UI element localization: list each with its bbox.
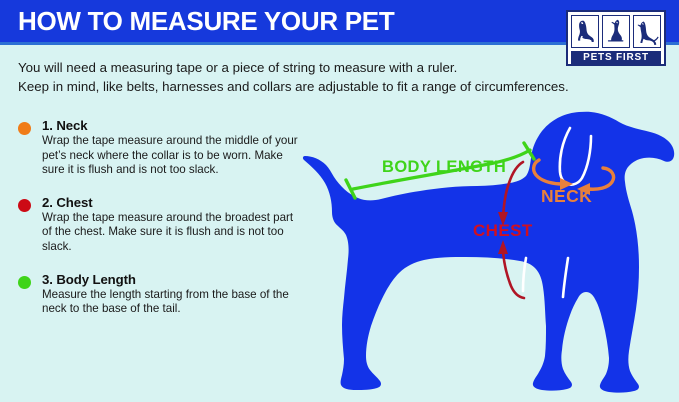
- step-body-length: 3. Body Length Measure the length starti…: [18, 272, 303, 317]
- dog-measurement-diagram: BODY LENGTH NECK CHEST: [298, 106, 679, 402]
- dog-silhouette-icon: [303, 112, 674, 393]
- logo-panels: [571, 15, 661, 48]
- step-dot-body-length: [18, 276, 31, 289]
- step-title-body-length: 3. Body Length: [42, 272, 303, 287]
- step-body-neck: Wrap the tape measure around the middle …: [42, 134, 303, 178]
- intro-line-1: You will need a measuring tape or a piec…: [18, 58, 558, 77]
- step-title-neck: 1. Neck: [42, 118, 303, 133]
- dog-begging-icon: [602, 15, 630, 48]
- step-dot-chest: [18, 199, 31, 212]
- neck-label: NECK: [541, 186, 592, 206]
- steps-list: 1. Neck Wrap the tape measure around the…: [18, 118, 303, 334]
- pets-first-logo: PETS FIRST: [566, 10, 666, 66]
- chest-label: CHEST: [473, 221, 533, 240]
- step-body-body-length: Measure the length starting from the bas…: [42, 288, 303, 317]
- intro-text: You will need a measuring tape or a piec…: [18, 58, 558, 96]
- body-length-label: BODY LENGTH: [382, 158, 506, 176]
- step-chest: 2. Chest Wrap the tape measure around th…: [18, 195, 303, 255]
- dog-standing-icon: [633, 15, 661, 48]
- step-body-chest: Wrap the tape measure around the broades…: [42, 211, 303, 255]
- step-title-chest: 2. Chest: [42, 195, 303, 210]
- page-title: HOW TO MEASURE YOUR PET: [18, 6, 394, 37]
- infographic-page: HOW TO MEASURE YOUR PET PETS: [0, 0, 679, 402]
- logo-wordmark: PETS FIRST: [571, 51, 661, 64]
- intro-line-2: Keep in mind, like belts, harnesses and …: [18, 77, 558, 96]
- step-neck: 1. Neck Wrap the tape measure around the…: [18, 118, 303, 178]
- step-dot-neck: [18, 122, 31, 135]
- dog-sitting-icon: [571, 15, 599, 48]
